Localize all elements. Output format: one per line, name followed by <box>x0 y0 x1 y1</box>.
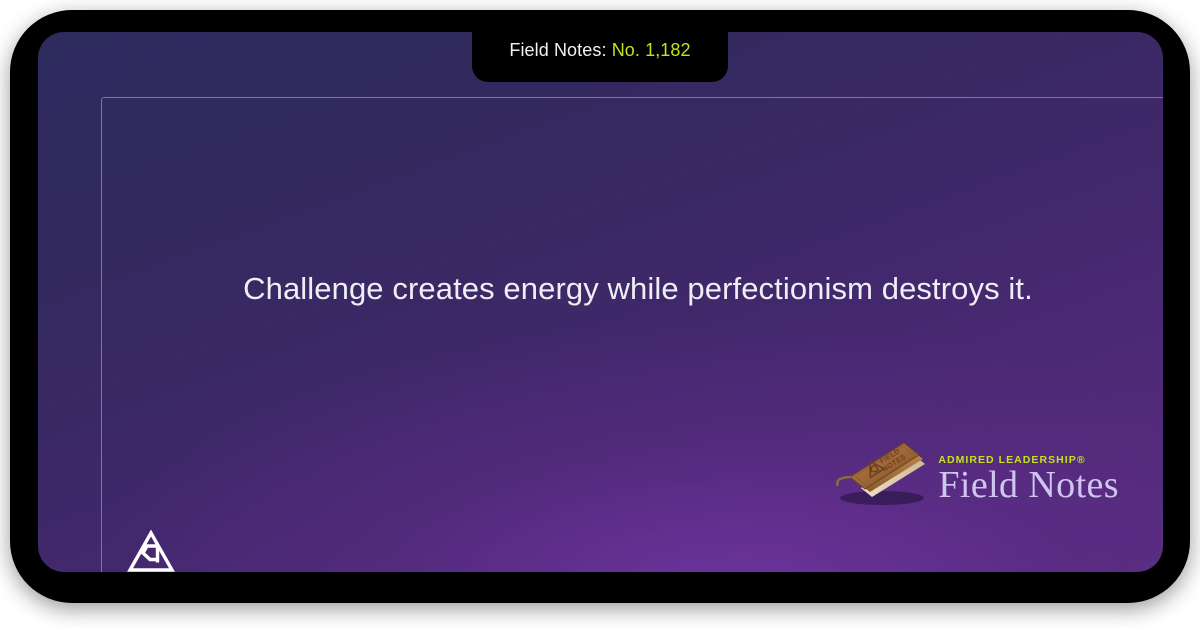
triangle-a-monogram-icon <box>126 529 176 572</box>
field-notes-book-image: FIELD NOTES <box>828 428 932 506</box>
field-notes-badge: Field Notes: No. 1,182 <box>472 18 728 82</box>
brand-title: Field Notes <box>938 467 1119 504</box>
card-panel: Challenge creates energy while perfectio… <box>38 32 1163 572</box>
brand-lockup: FIELD NOTES ADMIRED LEADERSHIP® Field No… <box>828 428 1119 506</box>
badge-text: Field Notes: No. 1,182 <box>509 40 690 61</box>
screenshot-stage: Challenge creates energy while perfectio… <box>0 0 1200 628</box>
badge-number: No. 1,182 <box>612 40 691 60</box>
badge-label: Field Notes: <box>509 40 611 60</box>
brand-text-block: ADMIRED LEADERSHIP® Field Notes <box>938 454 1119 506</box>
quote-text: Challenge creates energy while perfectio… <box>118 268 1158 310</box>
